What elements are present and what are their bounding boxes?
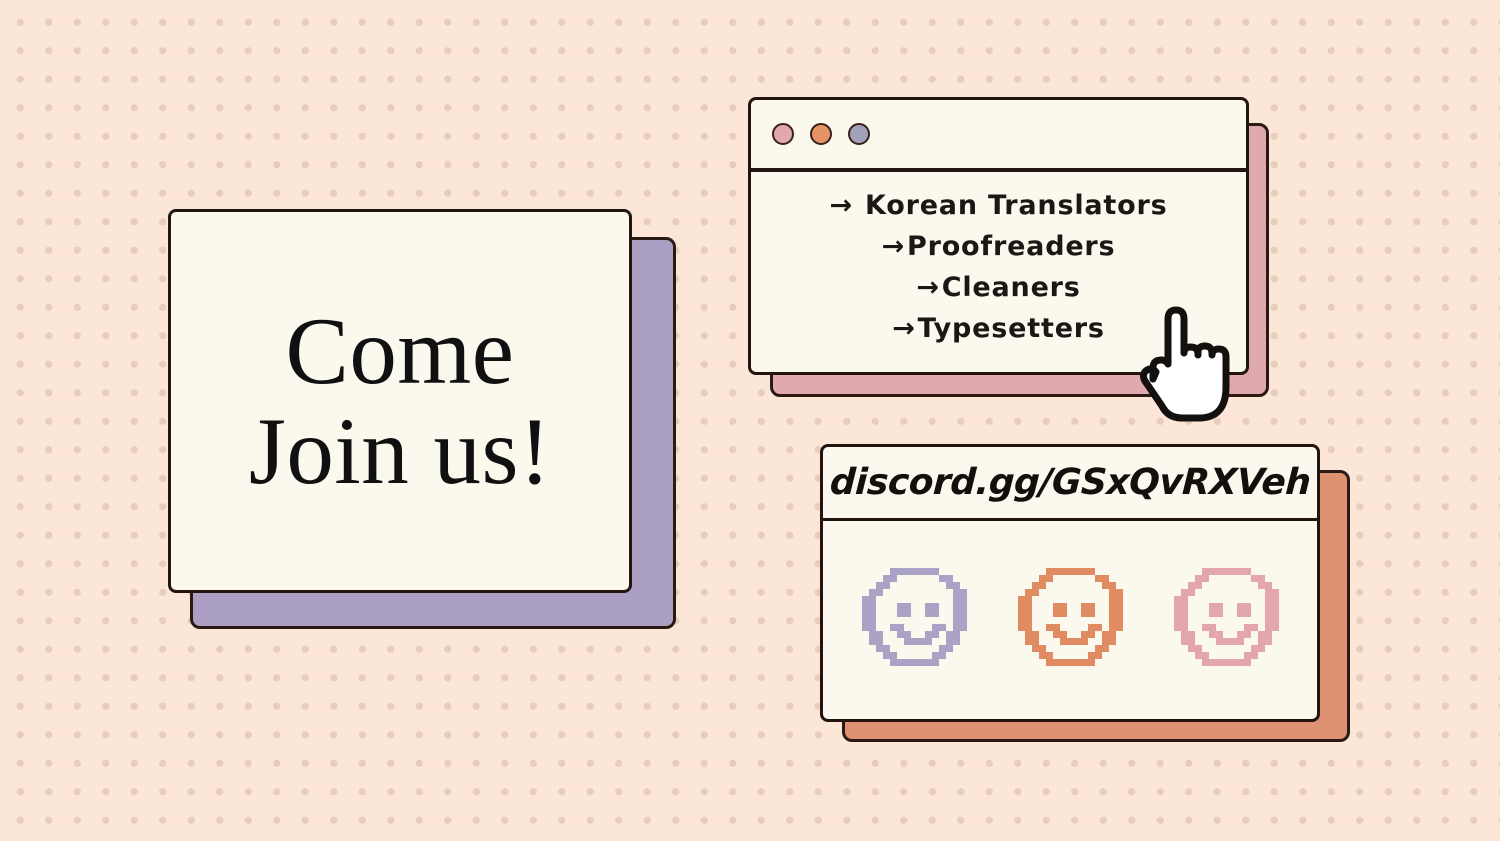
smiley-pixel-matrix [1018,568,1025,575]
smiley-face-orange-icon [1018,568,1123,666]
come-join-us-card: Come Join us! [168,209,656,619]
role-label: Proofreaders [907,231,1115,262]
join-message: Come Join us! [171,212,629,590]
window-dot-orange-icon[interactable] [810,123,832,145]
role-label: Typesetters [918,313,1105,344]
arrow-right-icon: → [830,190,853,221]
pointing-hand-cursor-icon [1135,305,1235,423]
discord-url-bar[interactable]: discord.gg/GSxQvRXVeh [823,447,1317,521]
join-headline-line-2: Join us! [249,404,551,498]
arrow-right-icon: → [882,231,905,262]
smiley-face-pink-icon [1174,568,1279,666]
role-label: Cleaners [942,272,1081,303]
role-item-proofreaders: →Proofreaders [882,226,1116,267]
smiley-pixel-matrix [1174,568,1181,575]
window-titlebar [751,100,1246,172]
role-item-cleaners: →Cleaners [916,267,1080,308]
role-label: Korean Translators [865,190,1167,221]
window-dot-purple-icon[interactable] [848,123,870,145]
role-item-korean-translators: →Korean Translators [830,185,1168,226]
window-controls [751,123,870,145]
smiley-face-purple-icon [862,568,967,666]
smiley-row [823,521,1317,716]
discord-invite-window: discord.gg/GSxQvRXVeh [820,444,1352,744]
arrow-right-icon: → [916,272,939,303]
card-surface: Come Join us! [168,209,632,593]
discord-invite-link[interactable]: discord.gg/GSxQvRXVeh [829,462,1312,503]
window-dot-pink-icon[interactable] [772,123,794,145]
role-item-typesetters: →Typesetters [892,308,1105,349]
smiley-pixel-matrix [862,568,869,575]
window-surface: discord.gg/GSxQvRXVeh [820,444,1320,722]
join-headline-line-1: Come [286,304,515,398]
arrow-right-icon: → [892,313,915,344]
